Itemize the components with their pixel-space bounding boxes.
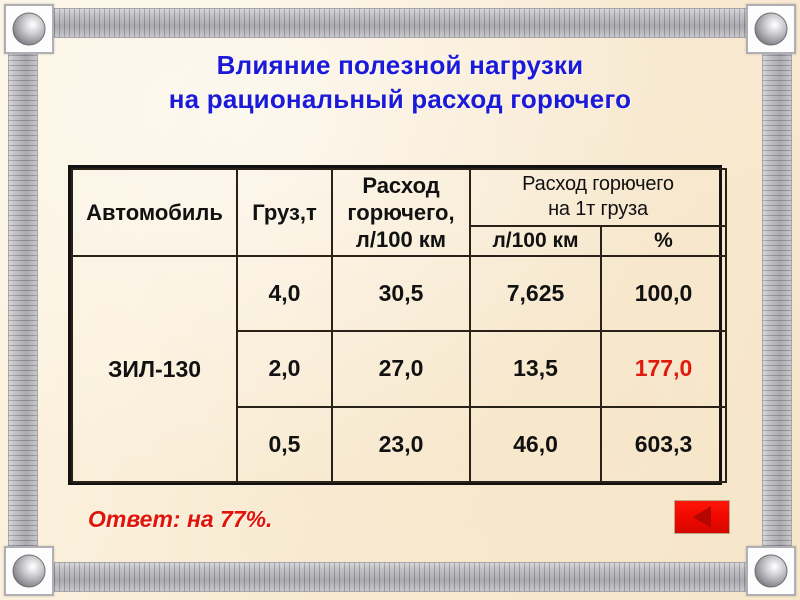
back-navigation-button[interactable]	[674, 500, 730, 534]
corner-plate-top-left	[4, 4, 54, 54]
table-header-row-primary: Автомобиль Груз,т Расход горючего, л/100…	[72, 169, 726, 226]
bolt-icon	[755, 13, 788, 46]
bolt-icon	[755, 555, 788, 588]
cell-per-ton: 7,625	[470, 256, 601, 331]
column-header-vehicle: Автомобиль	[72, 169, 237, 256]
column-header-consumption-line-1: Расход	[362, 173, 439, 198]
slide-canvas: Влияние полезной нагрузки на рациональны…	[0, 0, 800, 600]
slide-title: Влияние полезной нагрузки на рациональны…	[0, 48, 800, 116]
corner-plate-bottom-right	[746, 546, 796, 596]
column-header-per-ton-group: Расход горючего на 1т груза	[470, 169, 726, 226]
cell-load: 0,5	[237, 407, 332, 482]
cell-percent: 603,3	[601, 407, 726, 482]
column-header-per-ton-line-2: на 1т груза	[548, 198, 648, 220]
corner-plate-bottom-left	[4, 546, 54, 596]
cell-consumption: 23,0	[332, 407, 470, 482]
cell-vehicle-name: ЗИЛ-130	[72, 256, 237, 482]
cell-per-ton: 13,5	[470, 331, 601, 406]
column-header-consumption-line-3: л/100 км	[356, 227, 446, 252]
cell-per-ton: 46,0	[470, 407, 601, 482]
bolt-icon	[13, 555, 46, 588]
answer-text: Ответ: на 77%.	[88, 506, 272, 533]
column-header-per-ton-units: л/100 км	[470, 226, 601, 256]
cell-percent: 100,0	[601, 256, 726, 331]
corner-plate-top-right	[746, 4, 796, 54]
column-header-load: Груз,т	[237, 169, 332, 256]
column-header-per-ton-percent: %	[601, 226, 726, 256]
frame-band-bottom	[28, 562, 772, 592]
cell-percent-highlighted: 177,0	[601, 331, 726, 406]
cell-load: 2,0	[237, 331, 332, 406]
fuel-consumption-table: Автомобиль Груз,т Расход горючего, л/100…	[68, 165, 722, 485]
column-header-consumption: Расход горючего, л/100 км	[332, 169, 470, 256]
column-header-consumption-line-2: горючего,	[347, 200, 454, 225]
cell-consumption: 27,0	[332, 331, 470, 406]
bolt-icon	[13, 13, 46, 46]
triangle-left-icon	[693, 506, 711, 528]
cell-load: 4,0	[237, 256, 332, 331]
slide-title-line-1: Влияние полезной нагрузки	[0, 48, 800, 82]
column-header-per-ton-line-1: Расход горючего	[522, 173, 674, 195]
slide-title-line-2: на рациональный расход горючего	[0, 82, 800, 116]
table-row: ЗИЛ-130 4,0 30,5 7,625 100,0	[72, 256, 726, 331]
cell-consumption: 30,5	[332, 256, 470, 331]
frame-band-top	[28, 8, 772, 38]
